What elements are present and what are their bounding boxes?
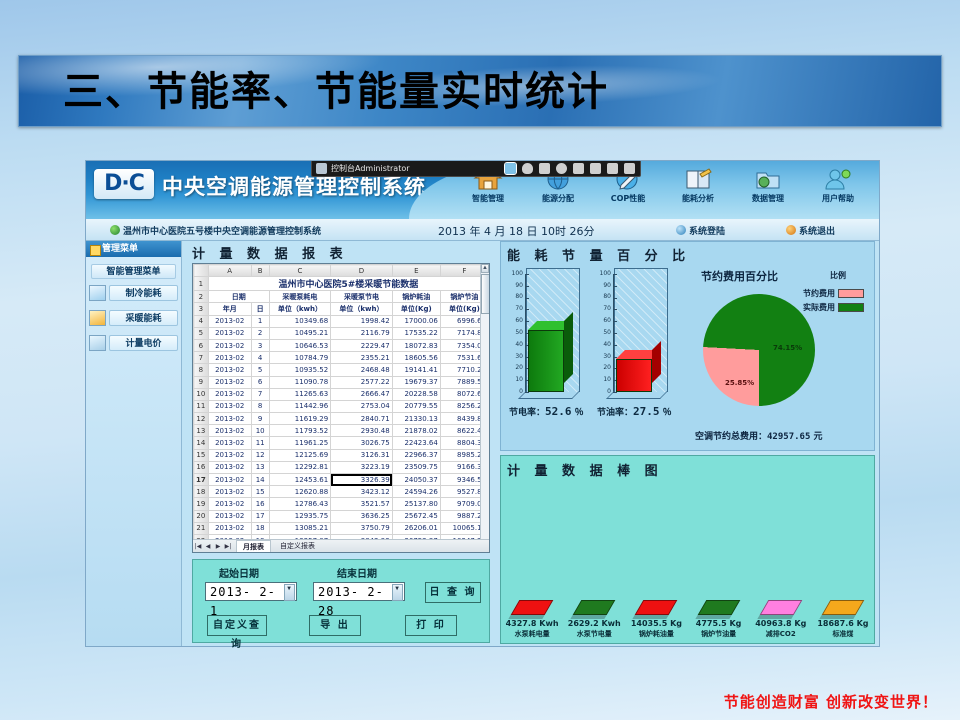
- scroll-up-icon[interactable]: ▲: [481, 264, 489, 273]
- group-header-cell[interactable]: 锅炉耗油: [392, 291, 440, 303]
- cell-boiler-oil[interactable]: 24050.37: [392, 474, 440, 486]
- spreadsheet-scrollbar[interactable]: ▲: [480, 264, 489, 539]
- bar-value: 18687.6 Kg: [812, 619, 874, 628]
- sheet-tab-monthly[interactable]: 月报表: [236, 540, 271, 553]
- end-date-label: 结束日期: [337, 565, 377, 580]
- percent-panel-title: 能 耗 节 量 百 分 比: [507, 245, 874, 264]
- cell-pump-saved[interactable]: 2577.22: [331, 376, 393, 388]
- cell-day[interactable]: 14: [251, 474, 269, 486]
- cell-pump-saved[interactable]: 2753.04: [331, 400, 393, 412]
- bar-slab: [573, 600, 616, 615]
- cell-day[interactable]: 12: [251, 449, 269, 461]
- start-date-label: 起始日期: [219, 565, 259, 580]
- export-button[interactable]: 导 出: [309, 615, 361, 636]
- cell-year-month[interactable]: 2013-02: [208, 376, 251, 388]
- login-icon: [676, 225, 686, 235]
- custom-query-button[interactable]: 自定义查询: [207, 615, 267, 636]
- legend-swatch: [838, 303, 864, 312]
- table-row: 172013-021412453.613326.3924050.379346.5…: [194, 474, 489, 486]
- cell-pump-power[interactable]: 10784.79: [269, 352, 331, 364]
- power-saving-rate-label: 节电率：52.6 ％: [509, 405, 584, 418]
- legend-title: 比例: [830, 270, 846, 281]
- bar-unit-oil: 100 90 80 70 60 50 40 30 20 10 0: [595, 268, 677, 418]
- app-logo: D·C: [94, 169, 154, 199]
- cell-year-month[interactable]: 2013-02: [208, 449, 251, 461]
- cell-day[interactable]: 17: [251, 510, 269, 522]
- cell-pump-power[interactable]: 10349.68: [269, 315, 331, 327]
- table-row: 192013-021612786.433521.5725137.809709.0…: [194, 498, 489, 510]
- cell-boiler-oil[interactable]: 23509.75: [392, 461, 440, 473]
- cell-year-month[interactable]: 2013-02: [208, 364, 251, 376]
- keyboard-icon[interactable]: [607, 163, 618, 174]
- cell-pump-saved[interactable]: 3126.31: [331, 449, 393, 461]
- unit-header-cell[interactable]: 单位（kwh）: [269, 303, 331, 315]
- bar-slab: [511, 600, 554, 615]
- cell-pump-power[interactable]: 12935.75: [269, 510, 331, 522]
- sheet-title-cell[interactable]: 温州市中心医院5#楼采暖节能数据: [208, 277, 488, 291]
- metering-bar-item: 2629.2 Kwh水泵节电量: [563, 600, 625, 639]
- metering-bar-item: 4327.8 Kwh水泵耗电量: [501, 600, 563, 639]
- cell-year-month[interactable]: 2013-02: [208, 461, 251, 473]
- cell-pump-power[interactable]: 12292.81: [269, 461, 331, 473]
- main-content: 计 量 数 据 报 表 A B C D E F 1: [182, 241, 879, 646]
- cell-day[interactable]: 16: [251, 498, 269, 510]
- cell-pump-power[interactable]: 11090.78: [269, 376, 331, 388]
- pie-label-actual: 74.15%: [773, 344, 802, 352]
- chevron-down-icon[interactable]: ▼: [392, 584, 403, 601]
- sidebar-item-price[interactable]: 计量电价: [89, 335, 178, 351]
- cell-boiler-oil[interactable]: 19141.41: [392, 364, 440, 376]
- bar-slab: [822, 600, 865, 615]
- bar-power: [528, 330, 564, 392]
- toolbar-label: 智能管理: [453, 193, 523, 204]
- bar-value: 4327.8 Kwh: [501, 619, 563, 628]
- bar-caption: 标准煤: [812, 629, 874, 639]
- row-header[interactable]: 19: [194, 498, 209, 510]
- cell-day[interactable]: 7: [251, 388, 269, 400]
- cell-year-month[interactable]: 2013-02: [208, 388, 251, 400]
- cell-pump-power[interactable]: 10646.53: [269, 339, 331, 351]
- row-header[interactable]: 3: [194, 303, 209, 315]
- table-row: 142013-021111961.253026.7522423.648804.3…: [194, 437, 489, 449]
- column-header[interactable]: B: [251, 265, 269, 277]
- end-date-input[interactable]: 2013- 2-28 ▼: [313, 582, 405, 601]
- spreadsheet[interactable]: A B C D E F 1 温州市中心医院5#楼采暖节能数据 2: [192, 263, 490, 553]
- cell-year-month[interactable]: 2013-02: [208, 327, 251, 339]
- bar-slab: [635, 600, 678, 615]
- cell-pump-power[interactable]: 12786.43: [269, 498, 331, 510]
- toolbar-item-data-management[interactable]: 数据管理: [733, 163, 803, 219]
- page-title: 三、节能率、节能量实时统计: [19, 56, 941, 127]
- application-window: D·C 中央空调能源管理控制系统 控制台Administrator 智能: [85, 160, 880, 647]
- table-row: 92013-02611090.782577.2219679.377889.55: [194, 376, 489, 388]
- cell-pump-saved[interactable]: 1998.42: [331, 315, 393, 327]
- column-header[interactable]: E: [392, 265, 440, 277]
- sidebar-item-cooling[interactable]: 制冷能耗: [89, 285, 178, 301]
- row-header[interactable]: 16: [194, 461, 209, 473]
- cell-boiler-oil[interactable]: 26206.01: [392, 522, 440, 534]
- metering-bar-row: 4327.8 Kwh水泵耗电量2629.2 Kwh水泵节电量14035.5 Kg…: [501, 600, 874, 639]
- cell-boiler-oil[interactable]: 17000.06: [392, 315, 440, 327]
- report-panel: 计 量 数 据 报 表 A B C D E F 1: [188, 241, 494, 646]
- table-row: 212013-021813085.213750.7926206.0110065.…: [194, 522, 489, 534]
- cell-boiler-oil[interactable]: 20779.55: [392, 400, 440, 412]
- cell-pump-saved[interactable]: 3026.75: [331, 437, 393, 449]
- logout-icon: [786, 225, 796, 235]
- cell-pump-saved[interactable]: 2840.71: [331, 413, 393, 425]
- cell-pump-power[interactable]: 10935.52: [269, 364, 331, 376]
- table-row: 1 温州市中心医院5#楼采暖节能数据: [194, 277, 489, 291]
- cell-pump-saved[interactable]: 3423.12: [331, 486, 393, 498]
- cell-pump-power[interactable]: 12125.69: [269, 449, 331, 461]
- table-row: 62013-02310646.532229.4718072.837354.04: [194, 339, 489, 351]
- bar-slab: [759, 600, 802, 615]
- cell-year-month[interactable]: 2013-02: [208, 510, 251, 522]
- system-logout-link[interactable]: 系统退出: [786, 224, 835, 237]
- cell-boiler-oil[interactable]: 18072.83: [392, 339, 440, 351]
- table-row: 72013-02410784.792355.2118605.567531.62: [194, 352, 489, 364]
- cell-boiler-oil[interactable]: 19679.37: [392, 376, 440, 388]
- bar-value: 2629.2 Kwh: [563, 619, 625, 628]
- facility-name: 温州市中心医院五号楼中央空调能源管理控制系统: [110, 224, 321, 237]
- cell-pump-saved[interactable]: 2355.21: [331, 352, 393, 364]
- print-button[interactable]: 打 印: [405, 615, 457, 636]
- cell-day[interactable]: 15: [251, 486, 269, 498]
- energy-percent-panel: 能 耗 节 量 百 分 比 100 90 80 70 60 50 40: [500, 241, 875, 451]
- table-row: 122013-02911619.292840.7121330.138439.81: [194, 413, 489, 425]
- mouse-icon[interactable]: [522, 163, 533, 174]
- unit-header-cell[interactable]: 日: [251, 303, 269, 315]
- metering-bar-item: 4775.5 Kg锅炉节油量: [688, 600, 750, 639]
- row-header[interactable]: 2: [194, 291, 209, 303]
- vm-console-title: 控制台Administrator: [331, 163, 410, 174]
- cell-boiler-oil[interactable]: 22423.64: [392, 437, 440, 449]
- row-header[interactable]: 15: [194, 449, 209, 461]
- cell-year-month[interactable]: 2013-02: [208, 474, 251, 486]
- cell-pump-power[interactable]: 11961.25: [269, 437, 331, 449]
- pie-label-saved: 25.85%: [725, 379, 754, 387]
- unit-header-cell[interactable]: 年月: [208, 303, 251, 315]
- query-panel: 起始日期 结束日期 2013- 2- 1 ▼ 2013- 2-28 ▼ 日 查 …: [192, 559, 490, 643]
- column-header[interactable]: C: [269, 265, 331, 277]
- cell-pump-power[interactable]: 12453.61: [269, 474, 331, 486]
- table-row: 202013-021712935.753636.2525672.459887.2…: [194, 510, 489, 522]
- speaker-icon[interactable]: [624, 163, 635, 174]
- cell-day[interactable]: 6: [251, 376, 269, 388]
- heating-icon: [89, 310, 106, 326]
- cell-boiler-oil[interactable]: 18605.56: [392, 352, 440, 364]
- cell-year-month[interactable]: 2013-02: [208, 425, 251, 437]
- first-sheet-icon[interactable]: |◀: [193, 543, 203, 550]
- cell-day[interactable]: 3: [251, 339, 269, 351]
- row-header[interactable]: 17: [194, 474, 209, 486]
- table-row: 162013-021312292.813223.1923509.759166.3…: [194, 461, 489, 473]
- cell-day[interactable]: 5: [251, 364, 269, 376]
- slide-title-banner: 三、节能率、节能量实时统计: [18, 55, 942, 127]
- cell-boiler-oil[interactable]: 20228.58: [392, 388, 440, 400]
- app-body: 管理菜单 智能管理菜单 制冷能耗 采暖能耗 计量电价 计 量 数 据 报 表: [86, 241, 879, 646]
- table-row: 182013-021512620.883423.1224594.269527.8…: [194, 486, 489, 498]
- row-header[interactable]: 11: [194, 400, 209, 412]
- network-icon[interactable]: [573, 163, 584, 174]
- cell-pump-saved[interactable]: 2930.48: [331, 425, 393, 437]
- table-row: 152013-021212125.693126.3122966.378985.2…: [194, 449, 489, 461]
- book-icon: [683, 166, 713, 192]
- row-header[interactable]: 4: [194, 315, 209, 327]
- table-row: 42013-02110349.681998.4217000.066996.63: [194, 315, 489, 327]
- price-icon: [89, 335, 106, 351]
- hand-icon[interactable]: [590, 163, 601, 174]
- cell-year-month[interactable]: 2013-02: [208, 413, 251, 425]
- row-header[interactable]: 1: [194, 277, 209, 291]
- row-header[interactable]: 6: [194, 339, 209, 351]
- cell-year-month[interactable]: 2013-02: [208, 437, 251, 449]
- sidebar-item-heating[interactable]: 采暖能耗: [89, 310, 178, 326]
- cell-pump-power[interactable]: 11619.29: [269, 413, 331, 425]
- display-icon[interactable]: [505, 163, 516, 174]
- slide-slogan: 节能创造财富 创新改变世界！: [724, 691, 938, 712]
- toolbar-label: 能源分配: [523, 193, 593, 204]
- row-header[interactable]: 7: [194, 352, 209, 364]
- legend-swatch: [838, 289, 864, 298]
- system-datetime: 2013 年 4 月 18 日 10时 26分: [438, 223, 594, 239]
- oil-saving-rate-label: 节油率：27.5 ％: [597, 405, 672, 418]
- cell-day[interactable]: 13: [251, 461, 269, 473]
- sidebar-item-label: 计量电价: [109, 335, 178, 351]
- cell-day[interactable]: 4: [251, 352, 269, 364]
- cell-boiler-oil[interactable]: 21878.02: [392, 425, 440, 437]
- facility-icon: [110, 225, 120, 235]
- cell-pump-power[interactable]: 13085.21: [269, 522, 331, 534]
- bar-caption: 水泵耗电量: [501, 629, 563, 639]
- cell-pump-power[interactable]: 11265.63: [269, 388, 331, 400]
- cell-boiler-oil[interactable]: 22966.37: [392, 449, 440, 461]
- cell-day[interactable]: 1: [251, 315, 269, 327]
- table-row: 112013-02811442.962753.0420779.558256.28: [194, 400, 489, 412]
- chevron-down-icon[interactable]: ▼: [284, 584, 295, 601]
- report-panel-title: 计 量 数 据 报 表: [192, 243, 494, 262]
- sidebar-header: 管理菜单: [86, 241, 181, 257]
- cell-year-month[interactable]: 2013-02: [208, 498, 251, 510]
- cooling-icon: [89, 285, 106, 301]
- prev-sheet-icon[interactable]: ◀: [203, 543, 213, 550]
- bar-value: 14035.5 Kg: [625, 619, 687, 628]
- row-header[interactable]: 12: [194, 413, 209, 425]
- cell-year-month[interactable]: 2013-02: [208, 400, 251, 412]
- cell-year-month[interactable]: 2013-02: [208, 522, 251, 534]
- row-header[interactable]: 5: [194, 327, 209, 339]
- savings-rate-bar-chart: 100 90 80 70 60 50 40 30 20 10 0: [507, 268, 682, 418]
- cell-year-month[interactable]: 2013-02: [208, 315, 251, 327]
- cell-year-month[interactable]: 2013-02: [208, 352, 251, 364]
- spreadsheet-grid: A B C D E F 1 温州市中心医院5#楼采暖节能数据 2: [193, 264, 489, 547]
- cell-pump-saved[interactable]: 2116.79: [331, 327, 393, 339]
- row-header[interactable]: 20: [194, 510, 209, 522]
- cell-boiler-oil[interactable]: 25672.45: [392, 510, 440, 522]
- savings-cost-pie-chart: 节约费用百分比 比例 节约费用 实际费用 74.15% 25.85% 空调节约总: [689, 264, 870, 446]
- table-row: 2 日期 采暖泵耗电 采暖泵节电 锅炉耗油 锅炉节油: [194, 291, 489, 303]
- cell-year-month[interactable]: 2013-02: [208, 486, 251, 498]
- next-sheet-icon[interactable]: ▶: [213, 543, 223, 550]
- bar-panel-title: 计 量 数 据 棒 图: [507, 460, 874, 479]
- legend-item-actual: 实际费用: [803, 302, 864, 313]
- row-header[interactable]: 21: [194, 522, 209, 534]
- sidebar-item-label: 制冷能耗: [109, 285, 178, 301]
- group-header-cell[interactable]: 采暖泵耗电: [269, 291, 331, 303]
- row-header[interactable]: 18: [194, 486, 209, 498]
- group-header-cell[interactable]: 采暖泵节电: [331, 291, 393, 303]
- total-savings-cost: 空调节约总费用：42957.65 元: [695, 429, 823, 442]
- corner-cell: [194, 265, 209, 277]
- cell-day[interactable]: 18: [251, 522, 269, 534]
- cell-day[interactable]: 10: [251, 425, 269, 437]
- bar-caption: 减排CO2: [750, 629, 812, 639]
- sidebar-item-label: 采暖能耗: [109, 310, 178, 326]
- table-row: 52013-02210495.212116.7917535.227174.84: [194, 327, 489, 339]
- disk-icon[interactable]: [556, 163, 567, 174]
- cell-pump-saved[interactable]: 2229.47: [331, 339, 393, 351]
- bar-value: 40963.8 Kg: [750, 619, 812, 628]
- folder-globe-icon: [753, 166, 783, 192]
- column-header[interactable]: A: [208, 265, 251, 277]
- bar-slab: [697, 600, 740, 615]
- cell-day[interactable]: 11: [251, 437, 269, 449]
- row-header[interactable]: 8: [194, 364, 209, 376]
- cell-pump-saved[interactable]: 2468.48: [331, 364, 393, 376]
- row-header[interactable]: 9: [194, 376, 209, 388]
- bar-value: 4775.5 Kg: [688, 619, 750, 628]
- cell-pump-saved[interactable]: 3223.19: [331, 461, 393, 473]
- table-row: 132013-021011793.522930.4821878.028622.4…: [194, 425, 489, 437]
- group-header-cell[interactable]: 日期: [208, 291, 269, 303]
- cell-boiler-oil[interactable]: 17535.22: [392, 327, 440, 339]
- toolbar-item-energy-analysis[interactable]: 能耗分析: [663, 163, 733, 219]
- start-date-input[interactable]: 2013- 2- 1 ▼: [205, 582, 297, 601]
- cell-day[interactable]: 8: [251, 400, 269, 412]
- pie-chart-title: 节约费用百分比: [701, 268, 778, 284]
- toolbar-label: 能耗分析: [663, 193, 733, 204]
- scrollbar-thumb[interactable]: [481, 274, 490, 314]
- unit-header-cell[interactable]: 单位（kwh）: [331, 303, 393, 315]
- toolbar-label: COP性能: [593, 193, 663, 204]
- unit-header-cell[interactable]: 单位(Kg): [392, 303, 440, 315]
- sheet-tab-custom[interactable]: 自定义报表: [274, 541, 321, 551]
- day-query-button[interactable]: 日 查 询: [425, 582, 481, 603]
- cell-boiler-oil[interactable]: 21330.13: [392, 413, 440, 425]
- spreadsheet-data-rows: 42013-02110349.681998.4217000.066996.635…: [194, 315, 489, 547]
- cell-pump-saved[interactable]: 3521.57: [331, 498, 393, 510]
- row-header[interactable]: 13: [194, 425, 209, 437]
- app-header: D·C 中央空调能源管理控制系统 控制台Administrator 智能: [86, 161, 879, 219]
- column-header-row: A B C D E F: [194, 265, 489, 277]
- metering-bar-item: 14035.5 Kg锅炉耗油量: [625, 600, 687, 639]
- last-sheet-icon[interactable]: ▶|: [223, 543, 233, 550]
- vm-toolbar-icons: [505, 163, 640, 174]
- cell-pump-power[interactable]: 11442.96: [269, 400, 331, 412]
- cell-day[interactable]: 9: [251, 413, 269, 425]
- column-header[interactable]: D: [331, 265, 393, 277]
- vm-console-toolbar[interactable]: 控制台Administrator: [311, 161, 641, 177]
- bar-caption: 锅炉节油量: [688, 629, 750, 639]
- bar-caption: 水泵节电量: [563, 629, 625, 639]
- table-row: 3 年月 日 单位（kwh） 单位（kwh） 单位(Kg) 单位(Kg): [194, 303, 489, 315]
- legend-item-saved: 节约费用: [803, 288, 864, 299]
- row-header[interactable]: 14: [194, 437, 209, 449]
- toolbar-item-user-help[interactable]: 用户帮助: [803, 163, 873, 219]
- user-icon: [823, 166, 853, 192]
- row-header[interactable]: 10: [194, 388, 209, 400]
- status-strip: 温州市中心医院五号楼中央空调能源管理控制系统 2013 年 4 月 18 日 1…: [86, 219, 879, 241]
- bar-unit-power: 100 90 80 70 60 50 40 30 20 10 0: [507, 268, 589, 418]
- metering-bar-item: 18687.6 Kg标准煤: [812, 600, 874, 639]
- cell-boiler-oil[interactable]: 25137.80: [392, 498, 440, 510]
- bar-caption: 锅炉耗油量: [625, 629, 687, 639]
- cell-pump-power[interactable]: 10495.21: [269, 327, 331, 339]
- table-row: 82013-02510935.522468.4819141.417710.23: [194, 364, 489, 376]
- system-login-link[interactable]: 系统登陆: [676, 224, 725, 237]
- cell-year-month[interactable]: 2013-02: [208, 339, 251, 351]
- bar-oil: [616, 359, 652, 392]
- toolbar-label: 数据管理: [733, 193, 803, 204]
- cell-pump-saved[interactable]: 3750.79: [331, 522, 393, 534]
- cell-pump-power[interactable]: 12620.88: [269, 486, 331, 498]
- cell-pump-saved[interactable]: 3636.25: [331, 510, 393, 522]
- monitor-icon: [316, 163, 327, 174]
- cell-pump-saved[interactable]: 3326.39: [331, 474, 393, 486]
- folder-icon[interactable]: [539, 163, 550, 174]
- metering-bar-panel: 计 量 数 据 棒 图 4327.8 Kwh水泵耗电量2629.2 Kwh水泵节…: [500, 455, 875, 644]
- metering-bar-item: 40963.8 Kg减排CO2: [750, 600, 812, 639]
- sheet-tab-bar: |◀ ◀ ▶ ▶| 月报表 自定义报表: [193, 539, 489, 552]
- toolbar-label: 用户帮助: [803, 193, 873, 204]
- table-row: 102013-02711265.632666.4720228.588072.62: [194, 388, 489, 400]
- sidebar-menu-title: 智能管理菜单: [91, 264, 176, 279]
- cell-pump-saved[interactable]: 2666.47: [331, 388, 393, 400]
- cell-boiler-oil[interactable]: 24594.26: [392, 486, 440, 498]
- cell-day[interactable]: 2: [251, 327, 269, 339]
- sidebar: 管理菜单 智能管理菜单 制冷能耗 采暖能耗 计量电价: [86, 241, 182, 646]
- cell-pump-power[interactable]: 11793.52: [269, 425, 331, 437]
